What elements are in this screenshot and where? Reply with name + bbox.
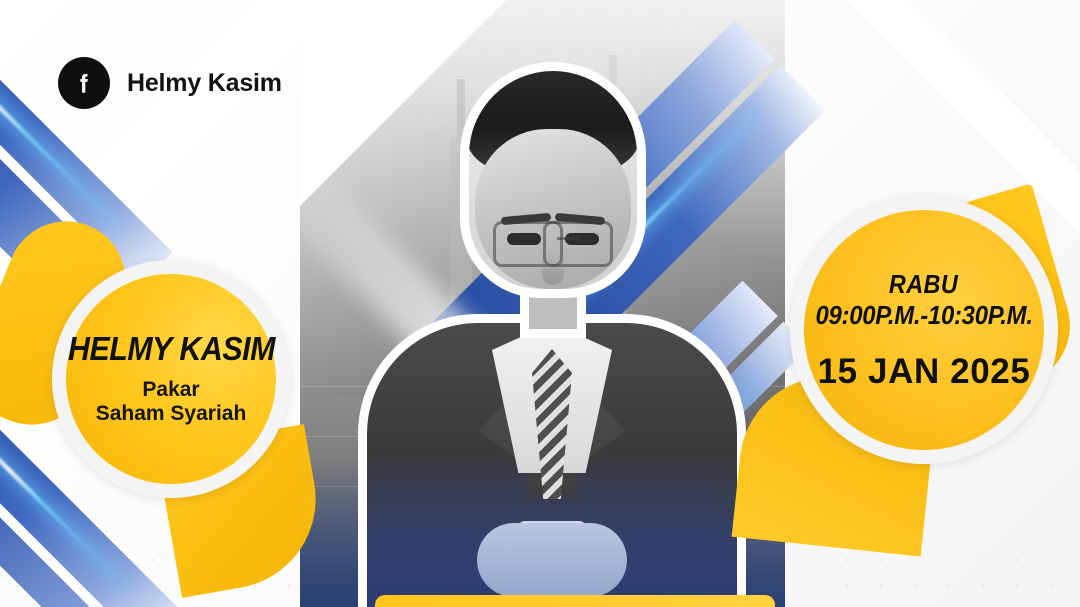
facebook-page-badge[interactable]: Helmy Kasim bbox=[58, 57, 282, 109]
schedule-day: RABU bbox=[889, 271, 958, 297]
schedule-time: 09:00P.M.-10:30P.M. bbox=[815, 302, 1032, 328]
schedule-date: 15 JAN 2025 bbox=[818, 354, 1031, 389]
face bbox=[475, 129, 631, 289]
promo-poster: HELMY KASIM Pakar Saham Syariah RABU 09:… bbox=[0, 0, 1080, 607]
portrait-head bbox=[460, 62, 646, 298]
facebook-icon[interactable] bbox=[58, 57, 110, 109]
speaker-title: Pakar Saham Syariah bbox=[96, 378, 247, 425]
facebook-page-name: Helmy Kasim bbox=[127, 69, 282, 98]
bottom-yellow-bar bbox=[375, 595, 775, 607]
schedule-circle: RABU 09:00P.M.-10:30P.M. 15 JAN 2025 bbox=[804, 210, 1044, 450]
nose bbox=[542, 251, 564, 285]
speaker-name: HELMY KASIM bbox=[68, 332, 275, 365]
speaker-portrait bbox=[352, 62, 752, 607]
eyeglass-bridge bbox=[557, 237, 579, 240]
speaker-title-line1: Pakar bbox=[96, 378, 247, 402]
clasped-hands bbox=[477, 523, 627, 597]
speaker-title-line2: Saham Syariah bbox=[96, 402, 247, 426]
portrait-body bbox=[358, 314, 746, 607]
speaker-name-circle: HELMY KASIM Pakar Saham Syariah bbox=[66, 274, 276, 484]
